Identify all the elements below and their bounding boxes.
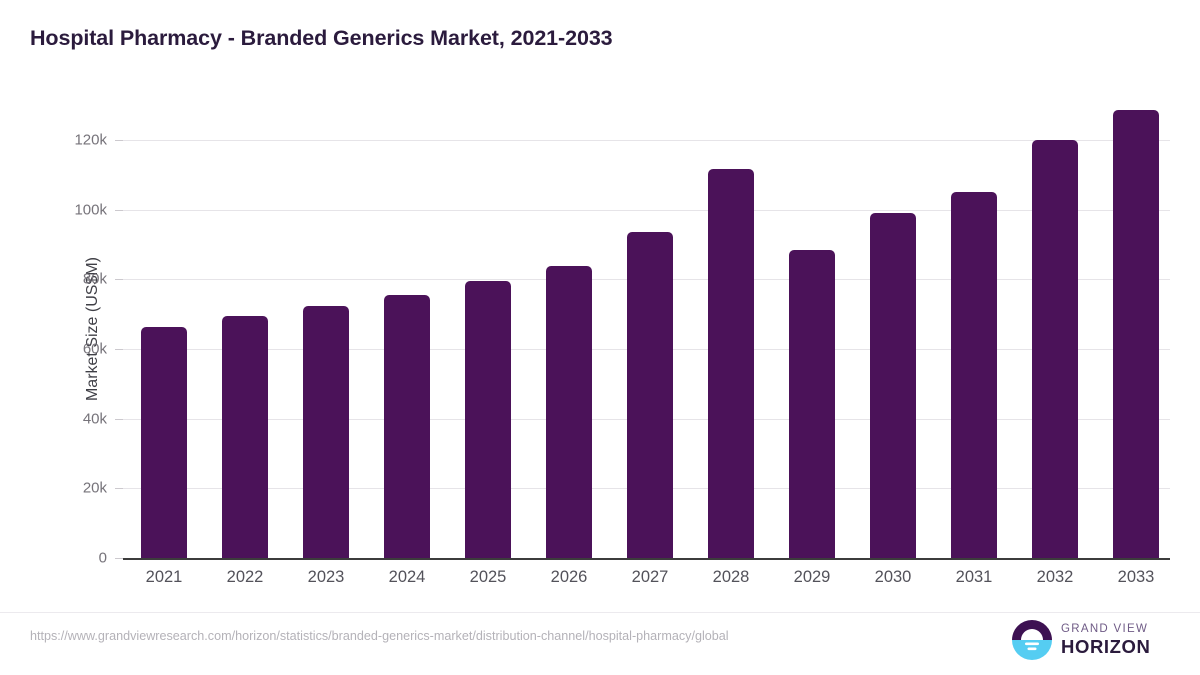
y-tick-label: 20k (37, 480, 107, 497)
bar[interactable] (465, 281, 511, 558)
gridline (123, 210, 1170, 211)
bar[interactable] (546, 266, 592, 558)
x-tick-label: 2021 (124, 568, 204, 587)
bar[interactable] (222, 316, 268, 558)
grand-view-horizon-logo[interactable]: GRAND VIEW HORIZON (1012, 620, 1151, 660)
bar[interactable] (627, 232, 673, 558)
x-tick-label: 2031 (934, 568, 1014, 587)
y-tick-label: 0 (37, 550, 107, 567)
x-tick-label: 2026 (529, 568, 609, 587)
logo-text: GRAND VIEW HORIZON (1061, 624, 1151, 657)
x-tick-label: 2033 (1096, 568, 1176, 587)
bar[interactable] (141, 327, 187, 558)
y-tick-mark (115, 558, 123, 559)
footer-divider (0, 612, 1200, 613)
y-tick-mark (115, 419, 123, 420)
x-tick-label: 2027 (610, 568, 690, 587)
x-tick-label: 2023 (286, 568, 366, 587)
y-tick-mark (115, 140, 123, 141)
bar[interactable] (870, 213, 916, 558)
y-tick-label: 120k (37, 132, 107, 149)
plot-area: Market Size (US$M) 020k40k60k80k100k120k… (123, 100, 1170, 558)
y-tick-label: 80k (37, 271, 107, 288)
y-tick-mark (115, 488, 123, 489)
logo-line-grand-view: GRAND VIEW (1061, 624, 1151, 636)
bar[interactable] (951, 192, 997, 558)
y-tick-label: 100k (37, 201, 107, 218)
bar[interactable] (384, 295, 430, 558)
bar[interactable] (303, 306, 349, 558)
gridline (123, 140, 1170, 141)
x-tick-label: 2025 (448, 568, 528, 587)
y-tick-mark (115, 210, 123, 211)
horizon-logo-icon (1012, 620, 1052, 660)
y-tick-mark (115, 279, 123, 280)
x-tick-label: 2032 (1015, 568, 1095, 587)
y-tick-label: 40k (37, 410, 107, 427)
bar[interactable] (708, 169, 754, 558)
y-tick-mark (115, 349, 123, 350)
x-tick-label: 2028 (691, 568, 771, 587)
x-tick-label: 2030 (853, 568, 933, 587)
x-tick-label: 2022 (205, 568, 285, 587)
bar[interactable] (789, 250, 835, 558)
logo-line-horizon: HORIZON (1061, 638, 1151, 657)
x-tick-label: 2029 (772, 568, 852, 587)
bar[interactable] (1113, 110, 1159, 558)
x-tick-label: 2024 (367, 568, 447, 587)
y-tick-label: 60k (37, 341, 107, 358)
chart-page: Hospital Pharmacy - Branded Generics Mar… (0, 0, 1200, 675)
bar[interactable] (1032, 140, 1078, 558)
source-url[interactable]: https://www.grandviewresearch.com/horizo… (30, 629, 729, 643)
page-title: Hospital Pharmacy - Branded Generics Mar… (30, 26, 613, 51)
x-axis-line (123, 558, 1170, 560)
